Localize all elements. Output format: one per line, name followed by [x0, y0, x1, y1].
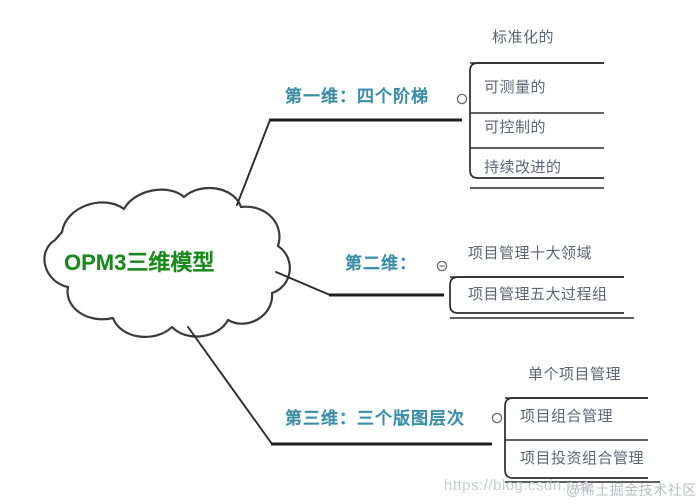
leaf-label-five-process-groups[interactable]: 项目管理五大过程组 — [468, 287, 608, 302]
mindmap-canvas: OPM3三维模型 第一维：四个阶梯 标准化的 可测量的 可控制的 持续改进的 第… — [0, 0, 697, 504]
branch-label-first-dimension[interactable]: 第一维：四个阶梯 — [285, 88, 429, 105]
leaf-label-standardized[interactable]: 标准化的 — [492, 30, 554, 45]
leaf-label-measurable[interactable]: 可测量的 — [484, 80, 546, 95]
leaf-label-portfolio-management[interactable]: 项目投资组合管理 — [520, 451, 644, 466]
leaf-label-controllable[interactable]: 可控制的 — [484, 120, 546, 135]
branch-3-connector — [188, 327, 272, 444]
leaf-label-ten-knowledge-areas[interactable]: 项目管理十大领域 — [468, 246, 592, 261]
leaf-label-continuous-improvement[interactable]: 持续改进的 — [484, 160, 562, 175]
branch-1-toggle-icon[interactable] — [457, 94, 466, 103]
leaf-label-single-project-management[interactable]: 单个项目管理 — [528, 367, 621, 382]
central-topic-label[interactable]: OPM3三维模型 — [64, 252, 214, 274]
leaf-label-program-management[interactable]: 项目组合管理 — [520, 409, 613, 424]
branch-3-toggle-icon[interactable] — [492, 413, 501, 422]
branch-label-second-dimension[interactable]: 第二维： — [345, 255, 417, 272]
branch-1-connector — [237, 120, 270, 205]
branch-label-third-dimension[interactable]: 第三维：三个版图层次 — [285, 410, 465, 427]
